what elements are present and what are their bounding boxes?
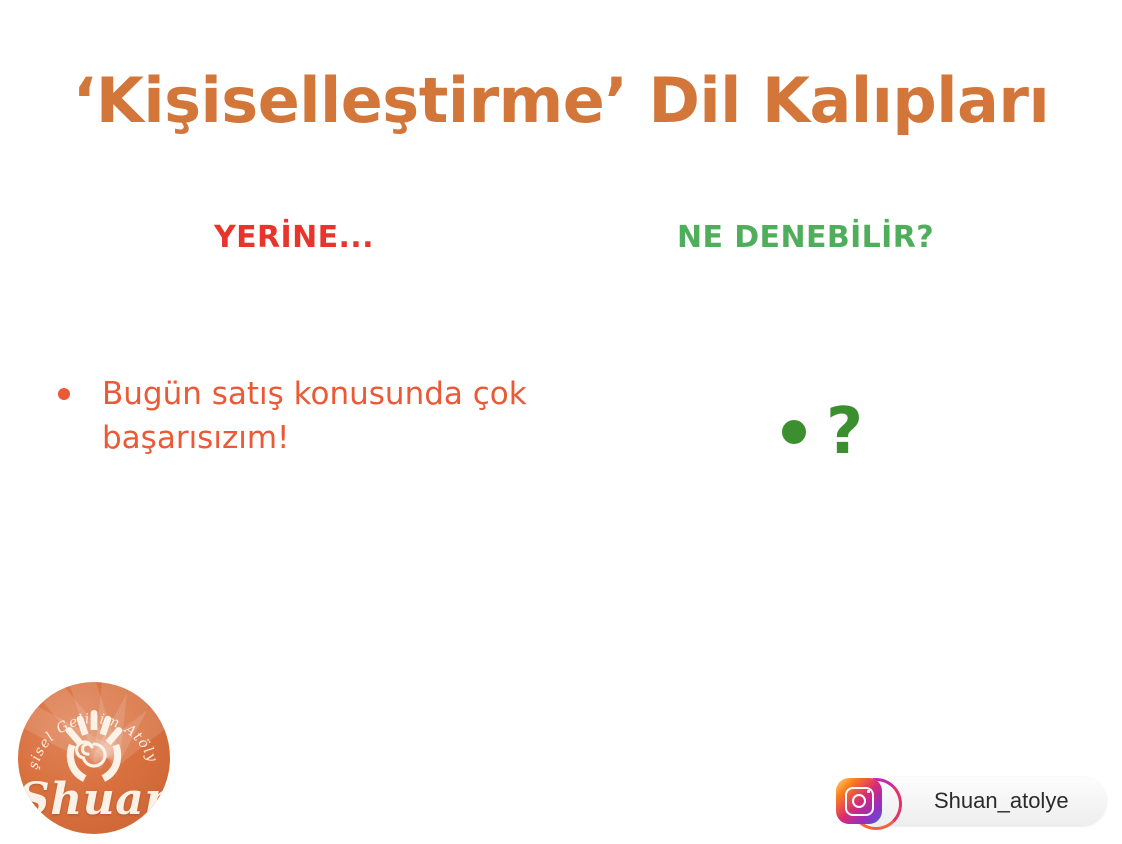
logo-circle-background: Kişisel Gelişim Atölyesi Shuan xyxy=(18,682,170,834)
column-header-ne-denebilir: NE DENEBİLİR? xyxy=(677,220,934,255)
instagram-handle-text: Shuan_atolye xyxy=(934,788,1069,814)
slide-canvas: ‘Kişiselleştirme’ Dil Kalıpları YERİNE..… xyxy=(0,0,1122,844)
shuan-logo: Kişisel Gelişim Atölyesi Shuan xyxy=(18,682,170,834)
instagram-icon[interactable] xyxy=(836,778,882,824)
page-title: ‘Kişiselleştirme’ Dil Kalıpları xyxy=(0,68,1122,133)
bullet-text-left: Bugün satış konusunda çok başarısızım! xyxy=(102,372,578,460)
instagram-handle-badge[interactable]: Shuan_atolye xyxy=(836,777,1069,825)
column-header-yerine: YERİNE... xyxy=(214,220,374,255)
bullet-dot-icon xyxy=(782,420,806,444)
camera-outline-icon xyxy=(845,787,874,816)
list-item: ? xyxy=(782,400,863,464)
list-item: Bugün satış konusunda çok başarısızım! xyxy=(58,372,578,460)
logo-wordmark: Shuan xyxy=(18,778,170,822)
bullet-text-right: ? xyxy=(826,400,863,464)
bullet-dot-icon xyxy=(58,388,70,400)
